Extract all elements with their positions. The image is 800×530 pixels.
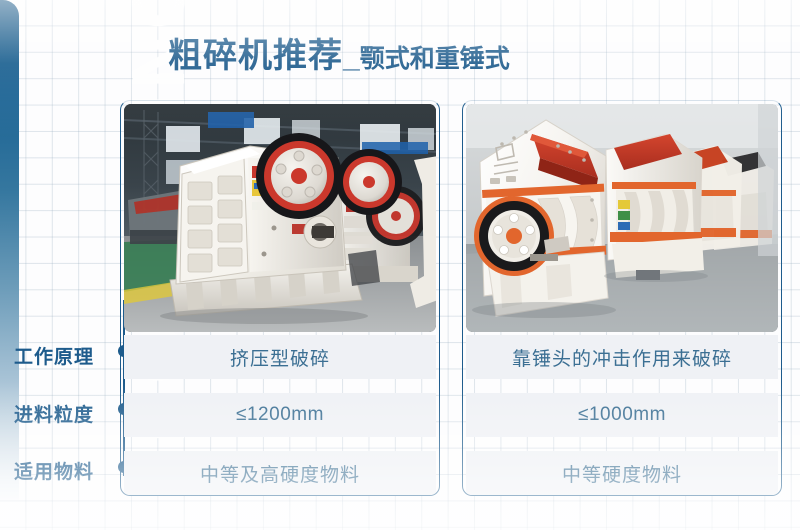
spec-row-working-principle: 挤压型破碎 bbox=[124, 335, 436, 379]
spec-value-applicable-material: 中等硬度物料 bbox=[562, 460, 682, 487]
spec-row-applicable-material: 中等及高硬度物料 bbox=[124, 451, 436, 495]
row-label-working-principle: 工作原理 bbox=[14, 342, 94, 369]
spec-value-working-principle: 挤压型破碎 bbox=[230, 344, 330, 371]
photo-heavy-hammer-crusher bbox=[466, 104, 778, 332]
card-jaw-crusher-inner: 挤压型破碎 ≤1200mm 中等及高硬度物料 bbox=[121, 101, 439, 495]
spec-value-feed-size: ≤1000mm bbox=[578, 404, 666, 426]
spec-rows-jaw-crusher: 挤压型破碎 ≤1200mm 中等及高硬度物料 bbox=[124, 335, 436, 489]
page-title-sub: 颚式和重锤式 bbox=[360, 45, 510, 73]
card-heavy-hammer-crusher-inner: 靠锤头的冲击作用来破碎 ≤1000mm 中等硬度物料 bbox=[463, 101, 781, 495]
page-title-separator: _ bbox=[343, 41, 360, 74]
spec-row-feed-size: ≤1200mm bbox=[124, 393, 436, 437]
spec-value-applicable-material: 中等及高硬度物料 bbox=[200, 460, 360, 487]
card-heavy-hammer-crusher[interactable]: 靠锤头的冲击作用来破碎 ≤1000mm 中等硬度物料 bbox=[462, 100, 782, 496]
poster-canvas: HONG XING 粗碎机推荐_颚式和重锤式 工作原理 进料粒度 适用物料 bbox=[0, 0, 800, 530]
spec-row-working-principle: 靠锤头的冲击作用来破碎 bbox=[466, 335, 778, 379]
card-jaw-crusher[interactable]: 挤压型破碎 ≤1200mm 中等及高硬度物料 bbox=[120, 100, 440, 496]
spec-row-applicable-material: 中等硬度物料 bbox=[466, 451, 778, 495]
row-label-feed-size: 进料粒度 bbox=[14, 400, 94, 427]
page-title-main: 粗碎机推荐 bbox=[168, 37, 343, 75]
spec-value-feed-size: ≤1200mm bbox=[236, 404, 324, 426]
spec-row-feed-size: ≤1000mm bbox=[466, 393, 778, 437]
photo-jaw-crusher bbox=[124, 104, 436, 332]
row-label-applicable-material: 适用物料 bbox=[14, 457, 94, 484]
page-title: 粗碎机推荐_颚式和重锤式 bbox=[168, 28, 510, 77]
spec-rows-heavy-hammer-crusher: 靠锤头的冲击作用来破碎 ≤1000mm 中等硬度物料 bbox=[466, 335, 778, 489]
spec-value-working-principle: 靠锤头的冲击作用来破碎 bbox=[512, 344, 732, 371]
